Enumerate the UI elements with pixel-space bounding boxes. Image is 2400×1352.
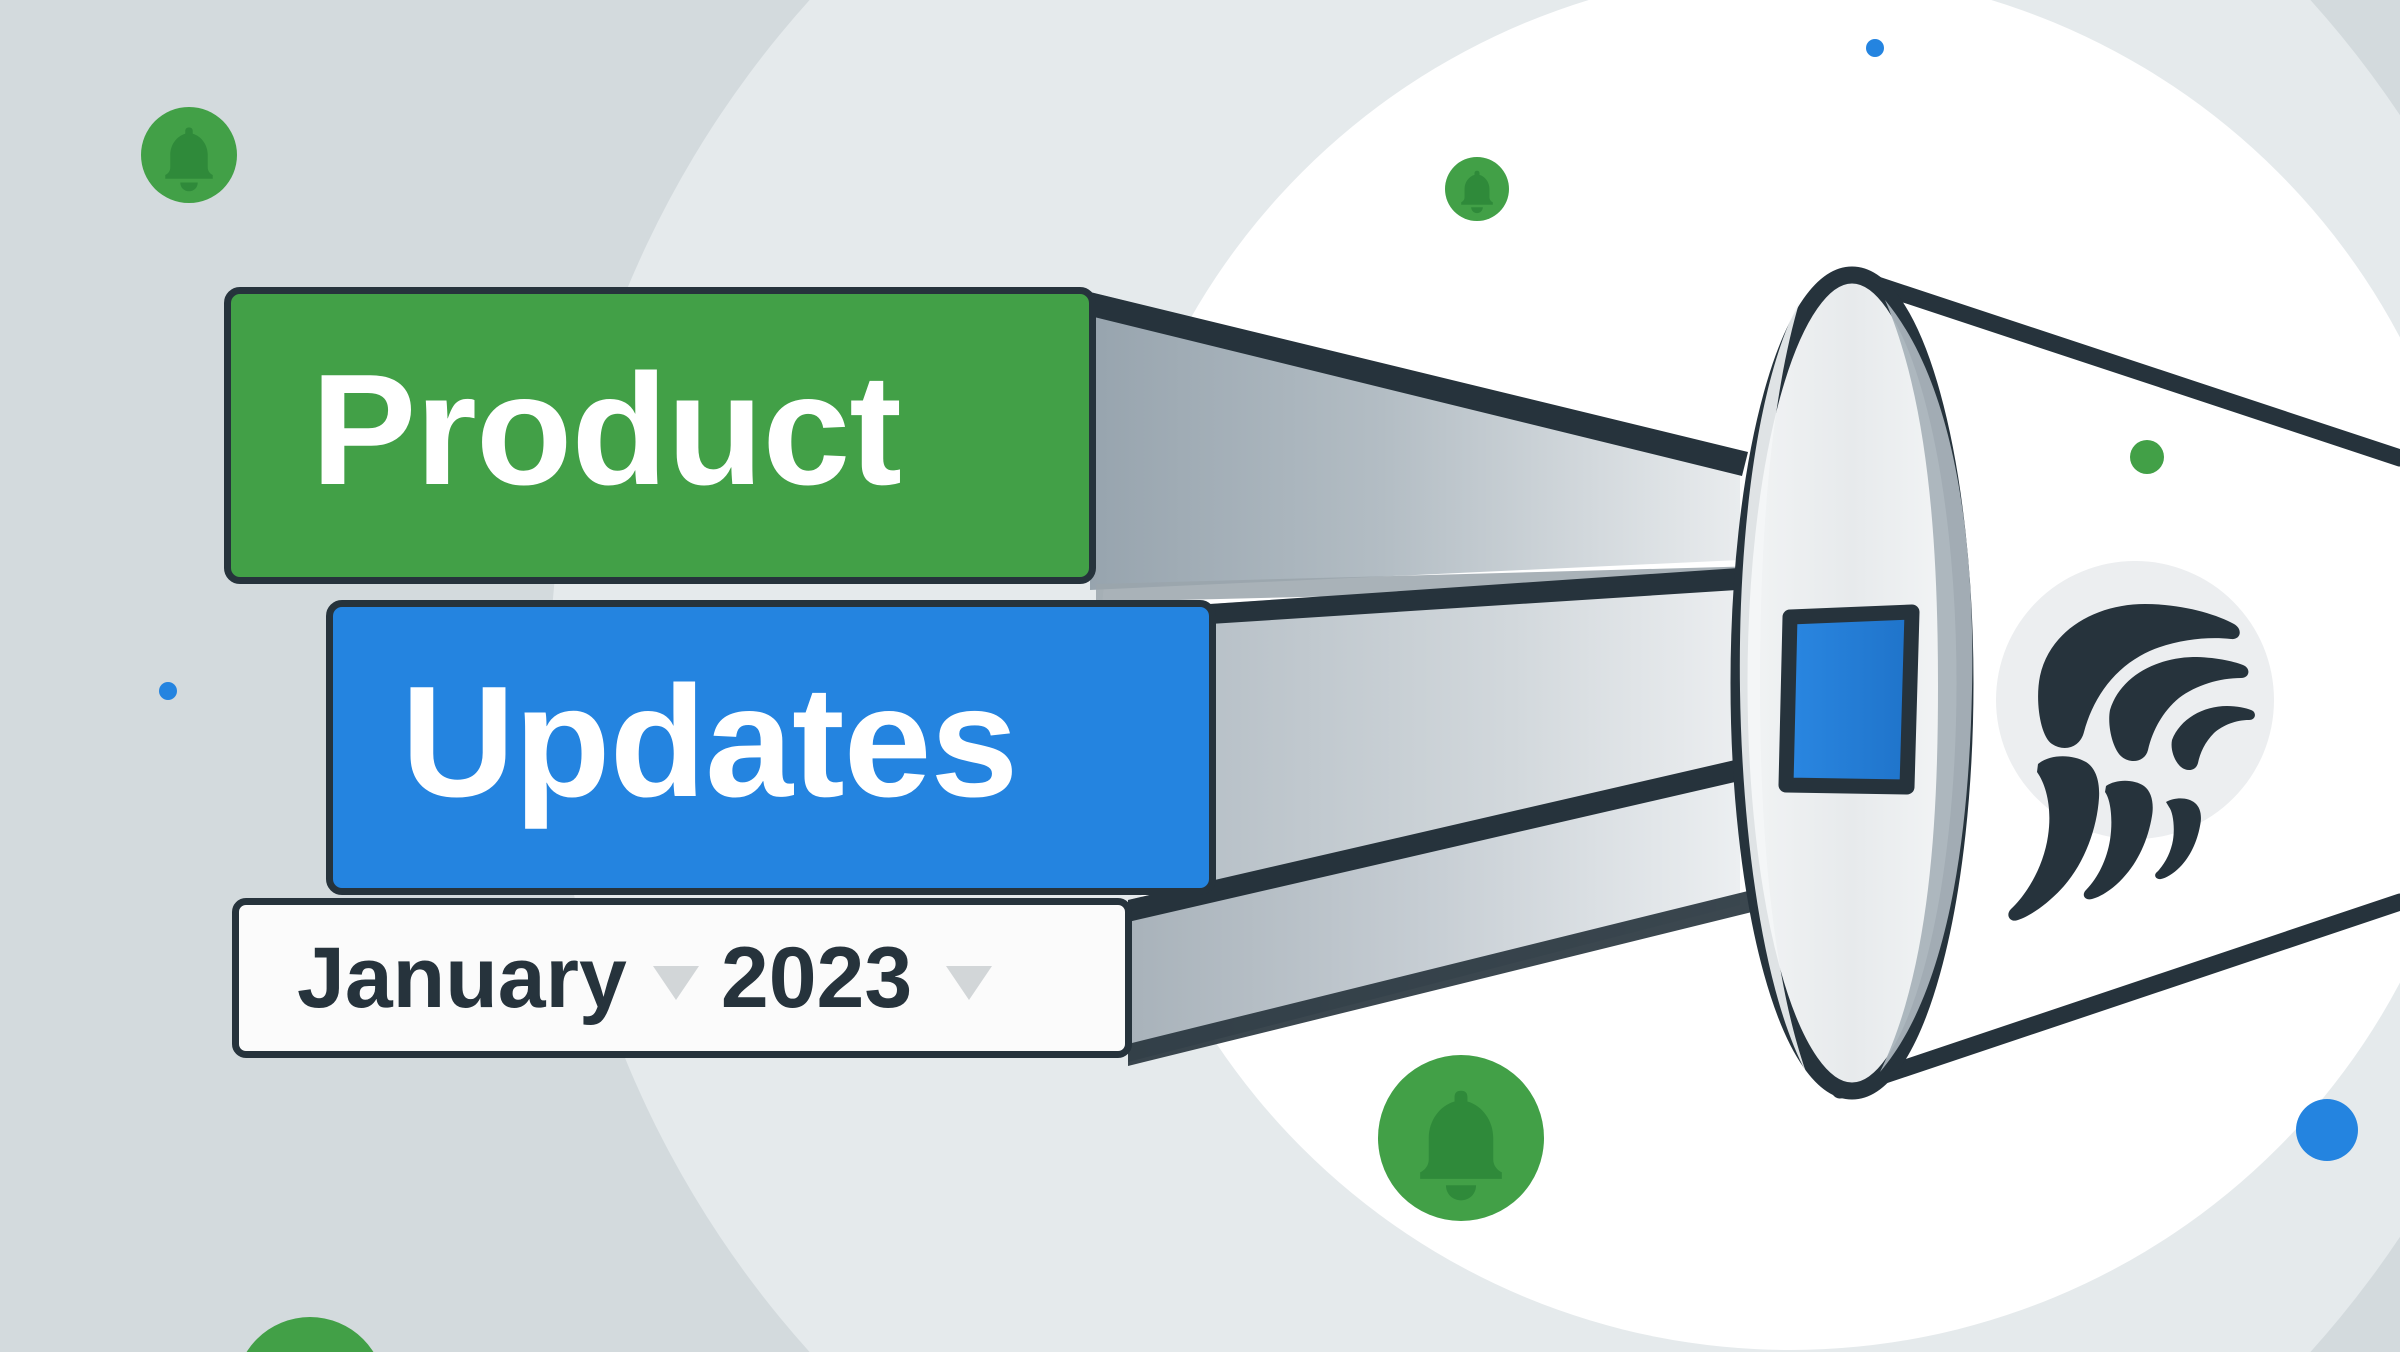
decoration-layer [0, 0, 2400, 1352]
dot-green-cone [2130, 440, 2164, 474]
bell-icon-top-left [141, 107, 237, 203]
bell-icon-top-center [1445, 157, 1509, 221]
dot-green-bottom-left [235, 1317, 385, 1352]
product-updates-banner: Product Updates January 2023 [0, 0, 2400, 1352]
dot-blue-top-right [1866, 39, 1884, 57]
bell-icon-bottom [1378, 1055, 1544, 1221]
dot-blue-bottom-right [2296, 1099, 2358, 1161]
dot-blue-left [159, 682, 177, 700]
